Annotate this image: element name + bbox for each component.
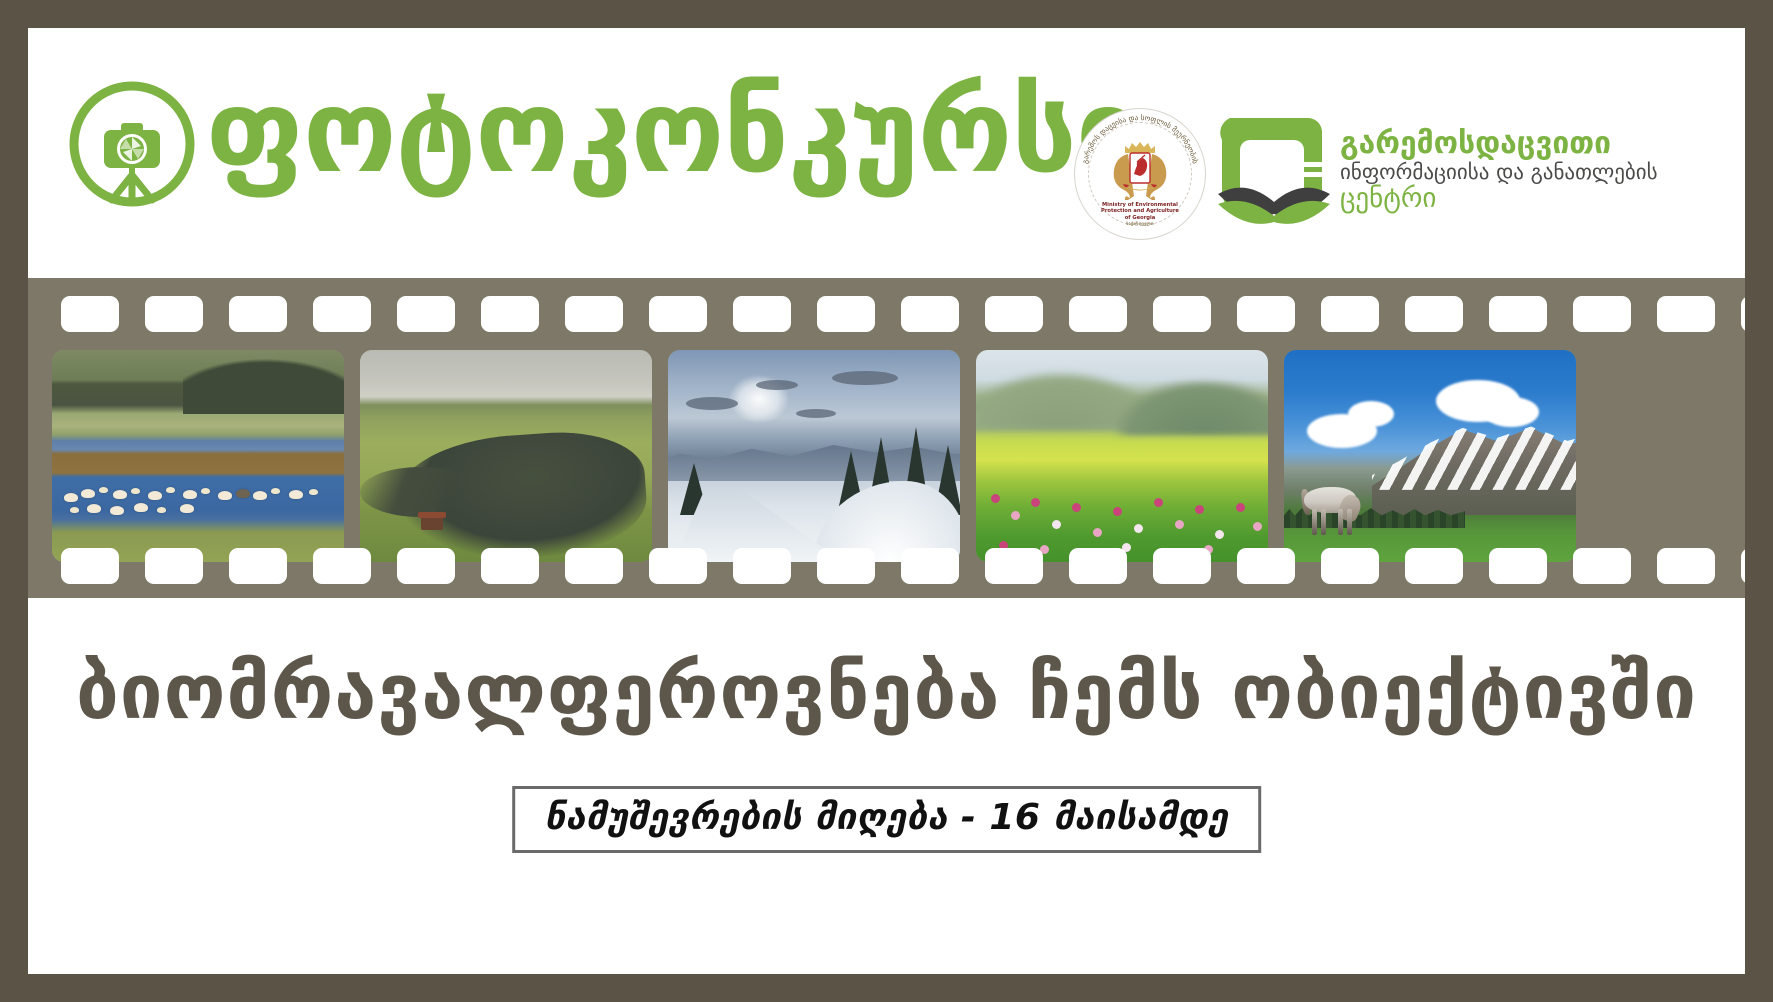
sprocket-hole bbox=[817, 548, 875, 584]
meadow-hill-right bbox=[1116, 380, 1268, 435]
sprocket-hole bbox=[985, 296, 1043, 332]
sprocket-hole bbox=[565, 548, 623, 584]
sprocket-hole bbox=[733, 548, 791, 584]
photo-alpine-flower-meadow bbox=[976, 350, 1268, 562]
sprocket-hole bbox=[397, 296, 455, 332]
sprocket-hole bbox=[817, 296, 875, 332]
sprocket-hole bbox=[1741, 296, 1745, 332]
sprocket-hole bbox=[1741, 548, 1745, 584]
sprocket-hole bbox=[565, 296, 623, 332]
sprocket-hole bbox=[229, 296, 287, 332]
sprocket-hole bbox=[1489, 296, 1547, 332]
deadline-text: ნამუშევრების მიღება - 16 მაისამდე bbox=[545, 798, 1229, 838]
sprocket-hole bbox=[313, 296, 371, 332]
sprocket-hole bbox=[61, 296, 119, 332]
sprocket-hole bbox=[61, 548, 119, 584]
bottom-section: ბიომრავალფეროვნება ჩემს ობიექტივში ნამუშ… bbox=[28, 598, 1745, 974]
sprocket-hole bbox=[901, 548, 959, 584]
mountain-snow bbox=[1372, 418, 1576, 490]
seal-caption-line2: Protection and Agriculture bbox=[1090, 208, 1190, 214]
center-logo-line3: ცენტრი bbox=[1340, 184, 1658, 214]
sprocket-hole bbox=[1405, 548, 1463, 584]
sprocket-hole bbox=[1321, 548, 1379, 584]
grazing-horse bbox=[1304, 487, 1366, 537]
photo-horse-snowy-mountains bbox=[1284, 350, 1576, 562]
sprocket-hole bbox=[229, 548, 287, 584]
georgia-coat-of-arms-icon bbox=[1103, 138, 1177, 200]
pelican-group bbox=[52, 477, 344, 524]
seal-caption-geo: საქართველო bbox=[1090, 221, 1190, 227]
camera-tripod-in-circle-icon bbox=[66, 78, 198, 210]
green-book-mark-icon bbox=[1216, 112, 1336, 230]
photo-snowy-mountain-road bbox=[668, 350, 960, 562]
sprocket-hole bbox=[1321, 296, 1379, 332]
sprocket-hole bbox=[1573, 296, 1631, 332]
sprocket-hole bbox=[145, 548, 203, 584]
sprocket-hole bbox=[481, 548, 539, 584]
sprocket-hole bbox=[1657, 296, 1715, 332]
sprocket-hole bbox=[1573, 548, 1631, 584]
sprocket-row-bottom bbox=[28, 548, 1745, 584]
photo-wetland-river bbox=[360, 350, 652, 562]
sprocket-hole bbox=[1237, 296, 1295, 332]
poster-canvas: ფოტოკონკურსი გარემოს დაცვისა და სოფლის მ… bbox=[28, 28, 1745, 974]
sprocket-hole bbox=[397, 548, 455, 584]
poster-root: ფოტოკონკურსი გარემოს დაცვისა და სოფლის მ… bbox=[0, 0, 1773, 1002]
sprocket-hole bbox=[313, 548, 371, 584]
photo-frames bbox=[28, 350, 1745, 562]
sprocket-hole bbox=[649, 548, 707, 584]
sprocket-row-top bbox=[28, 296, 1745, 332]
center-logo-line1: გარემოსდაცვითი bbox=[1340, 128, 1658, 160]
ministry-of-environment-seal: გარემოს დაცვისა და სოფლის მეურნეობის bbox=[1074, 108, 1206, 240]
sprocket-hole bbox=[649, 296, 707, 332]
sprocket-hole bbox=[1153, 548, 1211, 584]
sprocket-hole bbox=[1657, 548, 1715, 584]
main-headline: ბიომრავალფეროვნება ჩემს ობიექტივში bbox=[28, 650, 1745, 734]
seal-caption: Ministry of Environmental Protection and… bbox=[1074, 202, 1206, 228]
sprocket-hole bbox=[481, 296, 539, 332]
sprocket-hole bbox=[1405, 296, 1463, 332]
sprocket-hole bbox=[1069, 296, 1127, 332]
river-tributary bbox=[360, 467, 483, 518]
environmental-information-education-center-logo: გარემოსდაცვითი ინფორმაციისა და განათლები… bbox=[1216, 106, 1686, 236]
sprocket-hole bbox=[145, 296, 203, 332]
photo-pelicans-on-lake bbox=[52, 350, 344, 562]
deadline-box: ნამუშევრების მიღება - 16 მაისამდე bbox=[512, 786, 1262, 853]
sprocket-hole bbox=[733, 296, 791, 332]
header: ფოტოკონკურსი გარემოს დაცვისა და სოფლის მ… bbox=[28, 28, 1745, 278]
sprocket-hole bbox=[985, 548, 1043, 584]
sprocket-hole bbox=[901, 296, 959, 332]
filmstrip bbox=[28, 278, 1745, 598]
wooden-hut bbox=[421, 517, 443, 530]
page-title: ფოტოკონკურსი bbox=[206, 75, 1140, 190]
sprocket-hole bbox=[1237, 548, 1295, 584]
sprocket-hole bbox=[1069, 548, 1127, 584]
sprocket-hole bbox=[1153, 296, 1211, 332]
center-logo-text: გარემოსდაცვითი ინფორმაციისა და განათლები… bbox=[1340, 128, 1658, 213]
sprocket-hole bbox=[1489, 548, 1547, 584]
center-logo-line2: ინფორმაციისა და განათლების bbox=[1340, 160, 1658, 184]
